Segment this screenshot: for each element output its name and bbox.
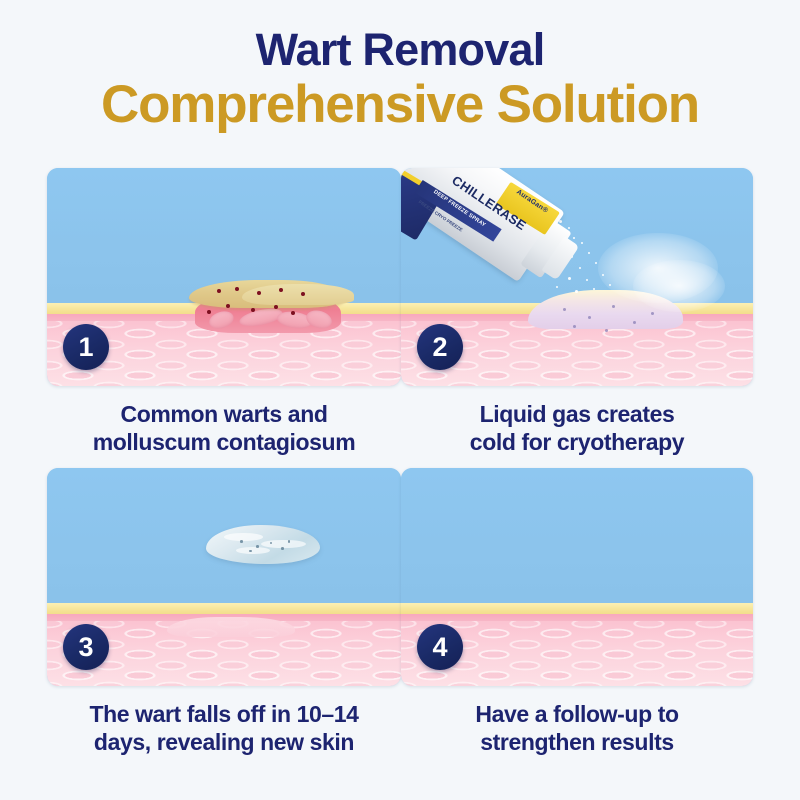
detached-wart-scab (206, 525, 319, 564)
caption-line: molluscum contagiosum (51, 428, 397, 456)
vapor-cloud (633, 260, 725, 312)
step-card-1: 1 Common warts and molluscum contagiosum (47, 168, 401, 468)
caption-line: Common warts and (51, 400, 397, 428)
steps-grid: 1 Common warts and molluscum contagiosum (47, 168, 755, 768)
step-number-badge: 1 (63, 324, 109, 370)
frost-dot (588, 316, 591, 319)
caption-line: Have a follow-up to (405, 700, 749, 728)
step-1-illustration: 1 (47, 168, 401, 386)
scab-dot (256, 545, 259, 548)
frost-dot (563, 308, 566, 311)
stratum-layer (401, 614, 753, 621)
step-3-caption: The wart falls off in 10–14 days, reveal… (47, 686, 401, 768)
step-4-illustration: 4 (401, 468, 753, 686)
step-number-badge: 4 (417, 624, 463, 670)
wart-capillary-dot (235, 287, 239, 291)
epidermis-layer (401, 603, 753, 614)
spray-droplet (595, 262, 597, 264)
step-2-caption: Liquid gas creates cold for cryotherapy (401, 386, 753, 468)
caption-line: strengthen results (405, 728, 749, 756)
step-1-caption: Common warts and molluscum contagiosum (47, 386, 401, 468)
scab-dot (240, 540, 243, 543)
step-card-3: 3 The wart falls off in 10–14 days, reve… (47, 468, 401, 768)
air-layer (401, 468, 753, 603)
scab-dot (281, 547, 284, 550)
wart-papilla (208, 308, 237, 331)
step-2-illustration: AuraGan® CHILLERASE DEEP FREEZE SPRAY FR… (401, 168, 753, 386)
caption-line: The wart falls off in 10–14 (51, 700, 397, 728)
step-number-badge: 3 (63, 624, 109, 670)
wart-capillary-dot (257, 291, 261, 295)
step-card-4: 4 Have a follow-up to strengthen results (401, 468, 755, 768)
epidermis-layer (47, 603, 401, 614)
page-title-secondary: Comprehensive Solution (0, 76, 800, 133)
spray-droplet (609, 284, 611, 286)
wart-capillary-dot (279, 288, 283, 292)
wart-papilla (304, 308, 334, 332)
caption-line: cold for cryotherapy (405, 428, 749, 456)
spray-droplet (556, 286, 558, 288)
caption-line: Liquid gas creates (405, 400, 749, 428)
spray-droplet (593, 288, 595, 290)
new-skin-surface (167, 617, 294, 637)
page-title-primary: Wart Removal (0, 26, 800, 74)
wart-capillary-dot (301, 292, 305, 296)
step-card-2: AuraGan® CHILLERASE DEEP FREEZE SPRAY FR… (401, 168, 755, 468)
title-block: Wart Removal Comprehensive Solution (0, 0, 800, 133)
caption-line: days, revealing new skin (51, 728, 397, 756)
spray-droplet (579, 267, 581, 269)
scab-ridge (224, 533, 263, 541)
spray-droplet (586, 279, 588, 281)
spray-droplet (588, 252, 590, 254)
step-3-illustration: 3 (47, 468, 401, 686)
scab-ridge (236, 547, 270, 554)
spray-droplet (602, 274, 604, 276)
wart-lesion-icon (189, 277, 345, 334)
frost-dot (651, 312, 654, 315)
step-number-badge: 2 (417, 324, 463, 370)
step-4-caption: Have a follow-up to strengthen results (401, 686, 753, 768)
